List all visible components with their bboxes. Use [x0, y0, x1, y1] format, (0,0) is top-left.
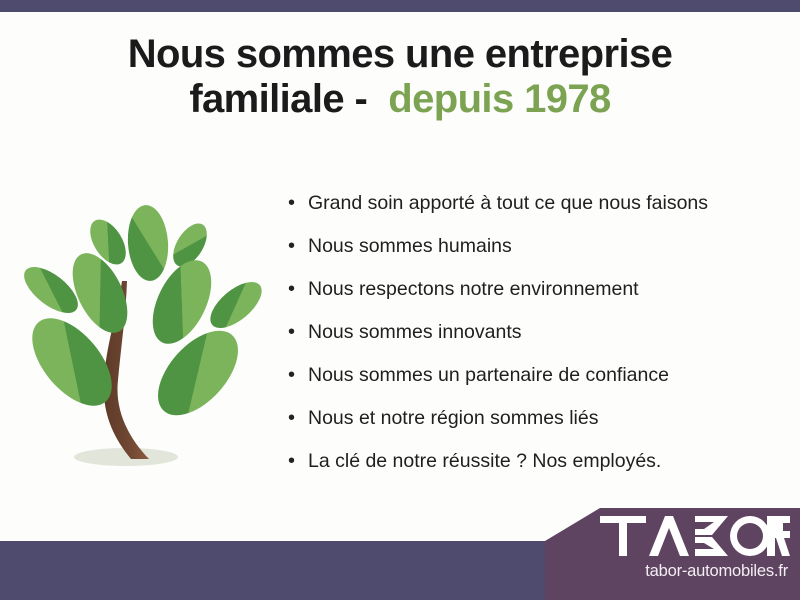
- list-item: • Grand soin apporté à tout ce que nous …: [288, 190, 788, 233]
- leaf: [125, 204, 170, 283]
- bullet-marker-icon: •: [288, 362, 308, 388]
- list-item-label: La clé de notre réussite ? Nos employés.: [308, 448, 661, 474]
- title-line-2: familiale - depuis 1978: [0, 77, 800, 122]
- title-plain-text: familiale: [189, 77, 344, 121]
- list-item: • Nous sommes un partenaire de confiance: [288, 362, 788, 405]
- bullet-marker-icon: •: [288, 233, 308, 259]
- bullet-marker-icon: •: [288, 319, 308, 345]
- list-item: • Nous sommes humains: [288, 233, 788, 276]
- slide-root: Nous sommes une entreprise familiale - d…: [0, 0, 800, 600]
- leaf: [203, 274, 270, 337]
- list-item: • Nous respectons notre environnement: [288, 276, 788, 319]
- page-title: Nous sommes une entreprise familiale - d…: [0, 32, 800, 122]
- list-item-label: Grand soin apporté à tout ce que nous fa…: [308, 190, 708, 216]
- bullet-marker-icon: •: [288, 190, 308, 216]
- list-item-label: Nous sommes un partenaire de confiance: [308, 362, 669, 388]
- title-accent-text: depuis 1978: [388, 77, 610, 121]
- list-item: • Nous sommes innovants: [288, 319, 788, 362]
- title-dash: -: [355, 77, 368, 121]
- tree-illustration: [18, 185, 278, 485]
- list-item: • La clé de notre réussite ? Nos employé…: [288, 448, 788, 491]
- bullet-marker-icon: •: [288, 405, 308, 431]
- top-accent-bar: [0, 0, 800, 12]
- logo-domain-text: tabor-automobiles.fr: [560, 562, 788, 581]
- bullet-list: • Grand soin apporté à tout ce que nous …: [288, 190, 788, 491]
- bullet-marker-icon: •: [288, 276, 308, 302]
- title-line-1: Nous sommes une entreprise: [0, 32, 800, 77]
- tabor-logo-wordmark: [600, 516, 790, 556]
- list-item: • Nous et notre région sommes liés: [288, 405, 788, 448]
- list-item-label: Nous respectons notre environnement: [308, 276, 639, 302]
- list-item-label: Nous et notre région sommes liés: [308, 405, 598, 431]
- list-item-label: Nous sommes humains: [308, 233, 512, 259]
- list-item-label: Nous sommes innovants: [308, 319, 522, 345]
- bullet-marker-icon: •: [288, 448, 308, 474]
